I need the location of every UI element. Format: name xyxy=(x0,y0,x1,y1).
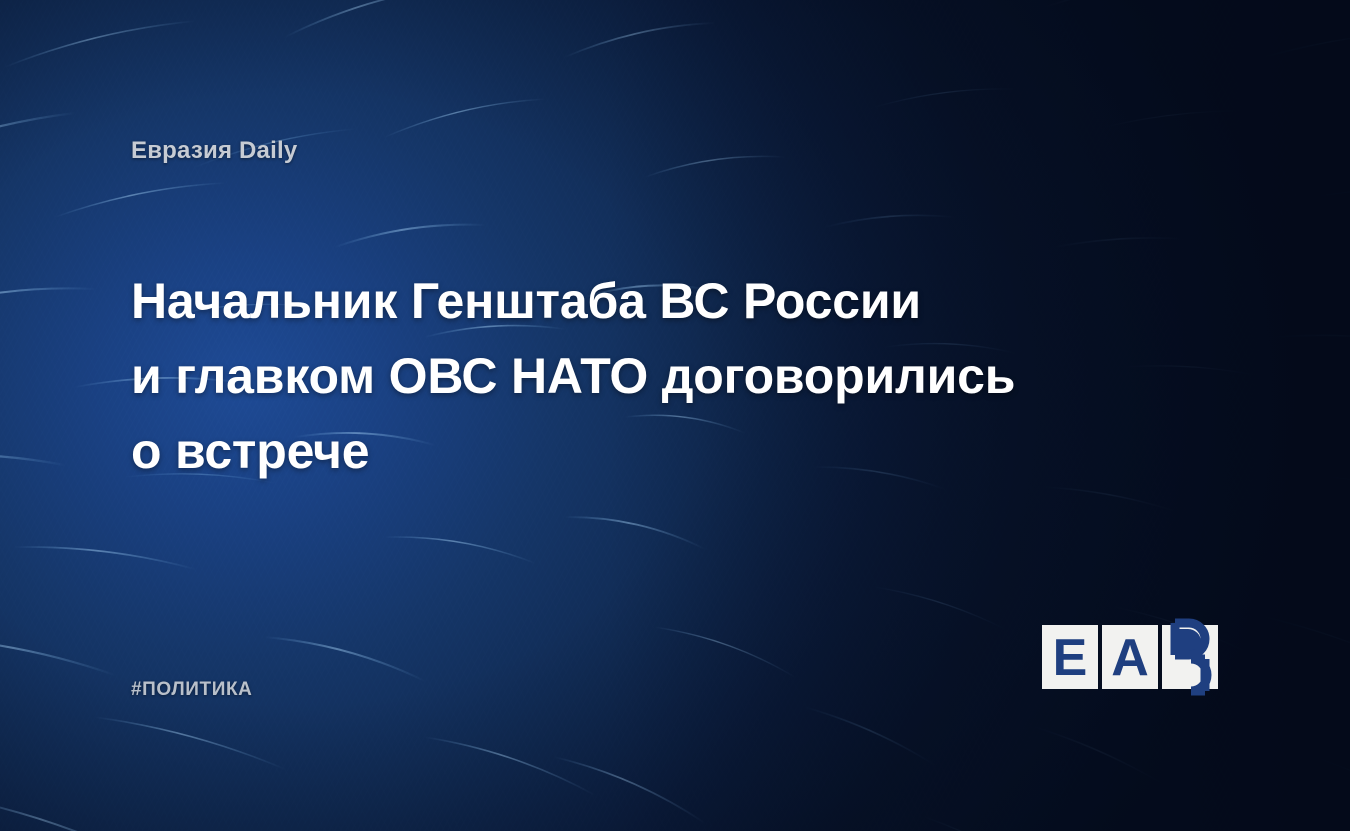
headline-line-1: Начальник Генштаба ВС России xyxy=(131,264,1111,339)
eadaily-logo[interactable]: E A xyxy=(1042,625,1222,689)
card-content: Евразия Daily Начальник Генштаба ВС Росс… xyxy=(0,0,1350,831)
brand-name: Евразия Daily xyxy=(131,137,297,165)
headline-line-3: о встрече xyxy=(131,414,1111,489)
news-card: Евразия Daily Начальник Генштаба ВС Росс… xyxy=(0,0,1350,831)
headline: Начальник Генштаба ВС России и главком О… xyxy=(131,264,1111,489)
logo-letter-e: E xyxy=(1053,629,1088,687)
category-tag[interactable]: #ПОЛИТИКА xyxy=(131,679,253,701)
headline-line-2: и главком ОВС НАТО договорились xyxy=(131,339,1111,414)
logo-letter-a: A xyxy=(1111,629,1149,687)
